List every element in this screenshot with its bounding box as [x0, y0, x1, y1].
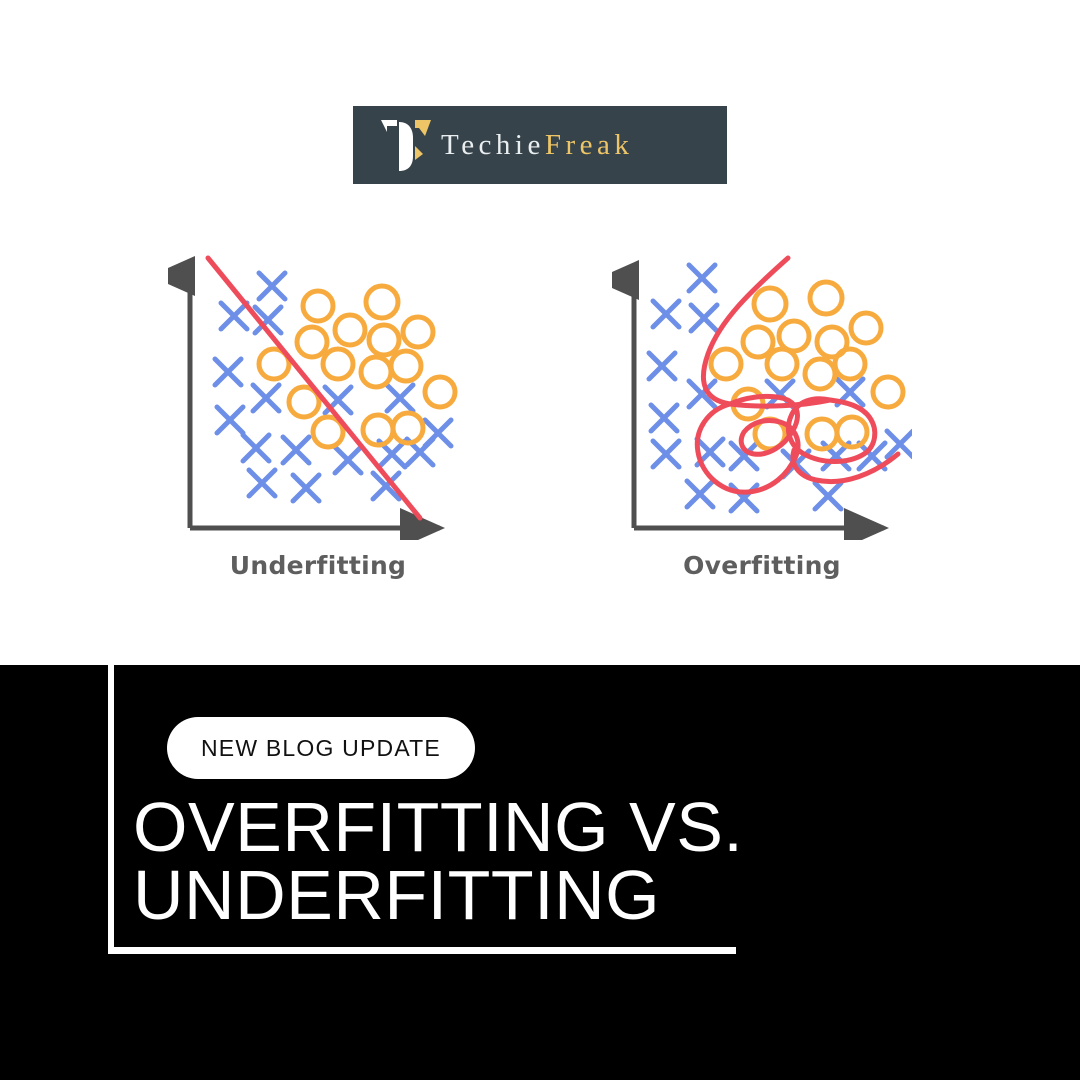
brand-wordmark: TechieFreak [441, 129, 633, 162]
chart-underfitting: Underfitting [168, 250, 468, 580]
brand-logo: TechieFreak [353, 106, 727, 184]
new-blog-update-badge[interactable]: NEW BLOG UPDATE [167, 717, 475, 779]
underfitting-plot [168, 250, 468, 540]
frame-vertical-rule [108, 665, 114, 953]
page-title: OVERFITTING VS. UNDERFITTING [133, 793, 853, 929]
underfitting-caption: Underfitting [168, 551, 468, 580]
poster-canvas: TechieFreak [0, 0, 1080, 1080]
brand-wordmark-accent: Freak [545, 129, 634, 161]
overfitting-plot [612, 250, 912, 540]
overfitting-caption: Overfitting [612, 551, 912, 580]
techie-freak-t-mark-icon [375, 116, 437, 174]
top-white-section: TechieFreak [0, 0, 1080, 665]
overfitting-markers [649, 265, 912, 511]
charts-row: Underfitting [0, 250, 1080, 590]
chart-overfitting: Overfitting [612, 250, 912, 580]
badge-label: NEW BLOG UPDATE [201, 735, 441, 762]
brand-wordmark-primary: Techie [441, 129, 545, 161]
frame-horizontal-rule [108, 947, 736, 954]
